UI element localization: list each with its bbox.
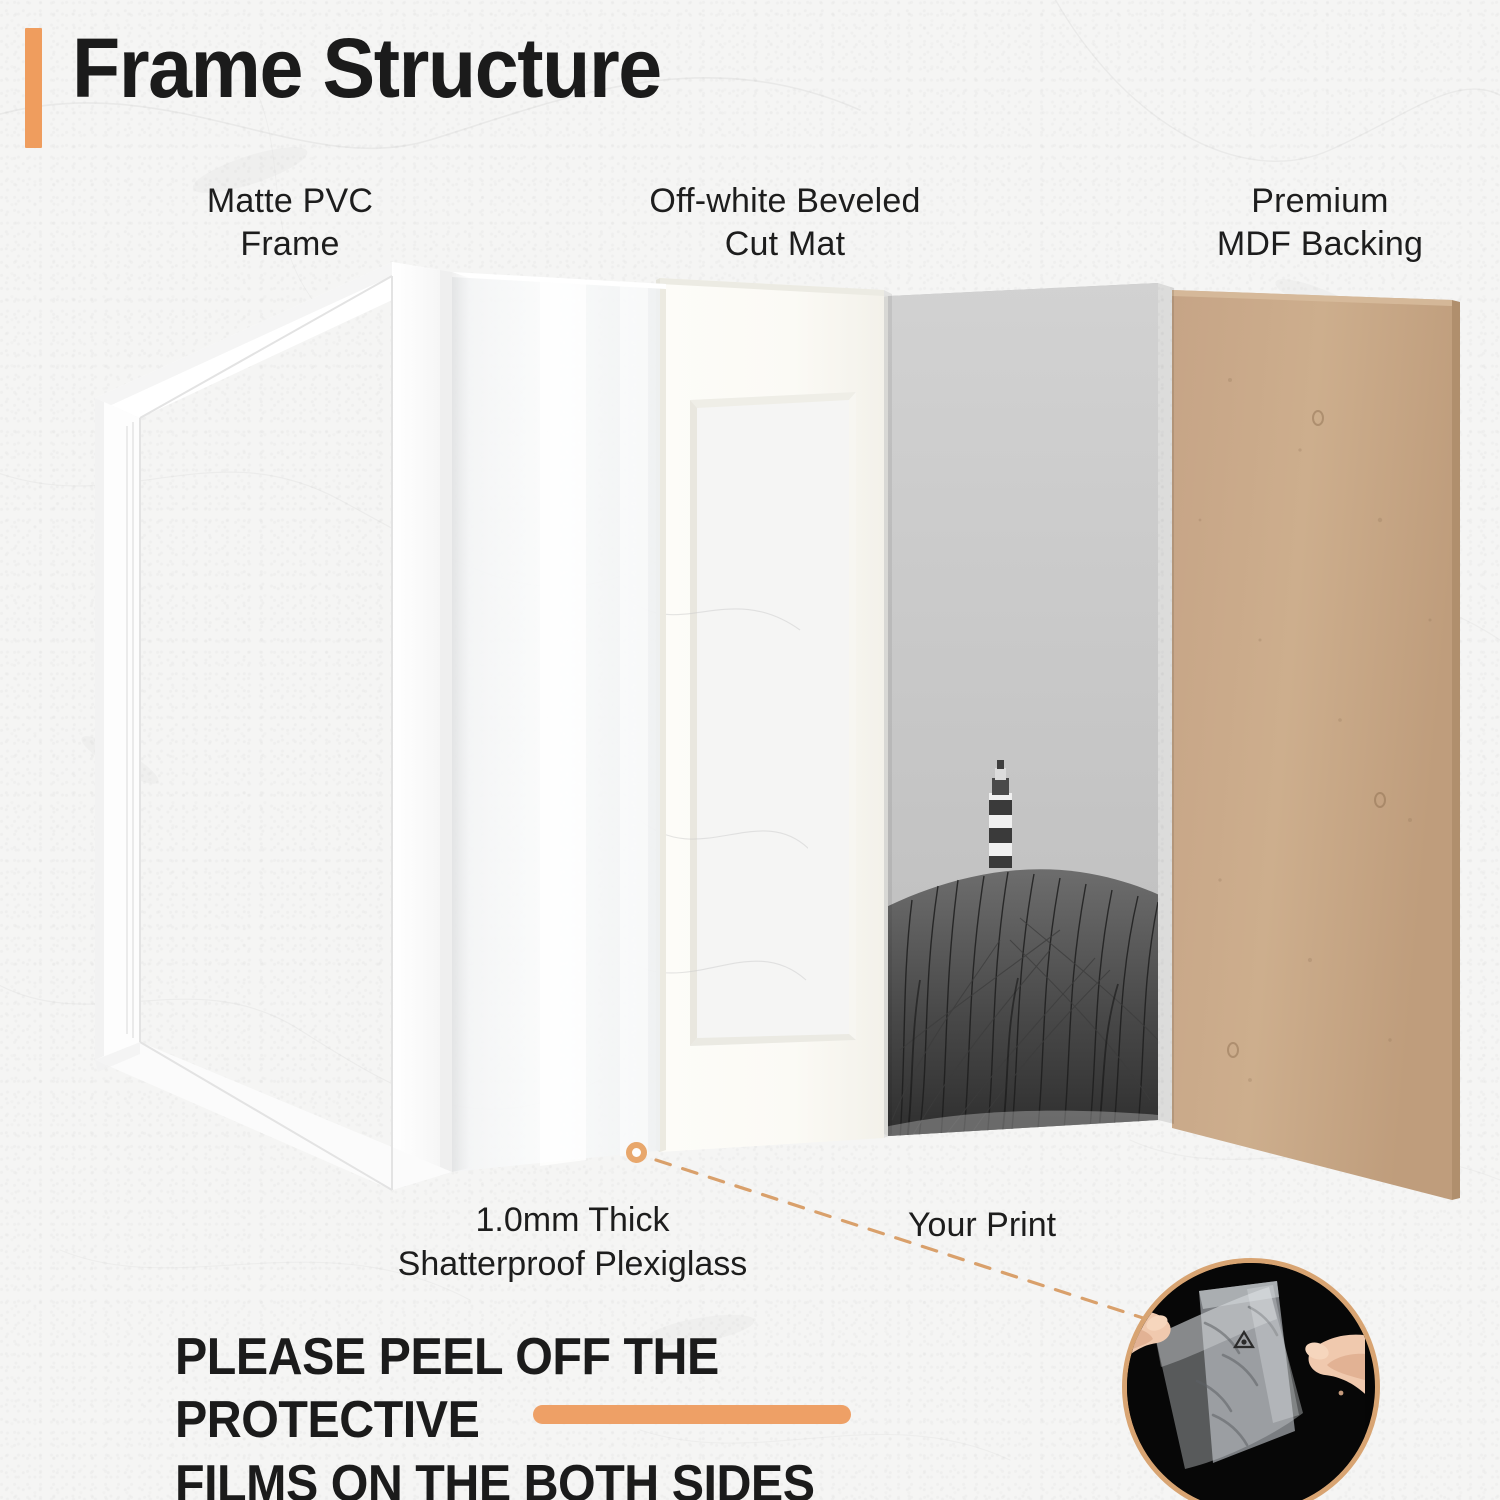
plexiglass-callout-marker [626,1142,647,1163]
label-matte-pvc-frame: Matte PVC Frame [150,180,430,266]
peel-film-notice: PLEASE PEEL OFF THE PROTECTIVE FILMS ON … [175,1326,1012,1500]
layer-shatterproof-plexiglass [448,272,666,1172]
infographic-canvas: Frame Structure [0,0,1500,1500]
label-your-print: Your Print [908,1203,1123,1247]
label-shatterproof-plexiglass: 1.0mm Thick Shatterproof Plexiglass [300,1198,845,1286]
peel-protective-film-photo [1122,1258,1380,1500]
layer-mdf-backing [1172,290,1460,1200]
label-beveled-cut-mat: Off-white Beveled Cut Mat [580,180,990,266]
label-mdf-backing: Premium MDF Backing [1160,180,1480,266]
layer-your-print [880,270,1174,1150]
layer-matte-pvc-frame [95,262,470,1190]
